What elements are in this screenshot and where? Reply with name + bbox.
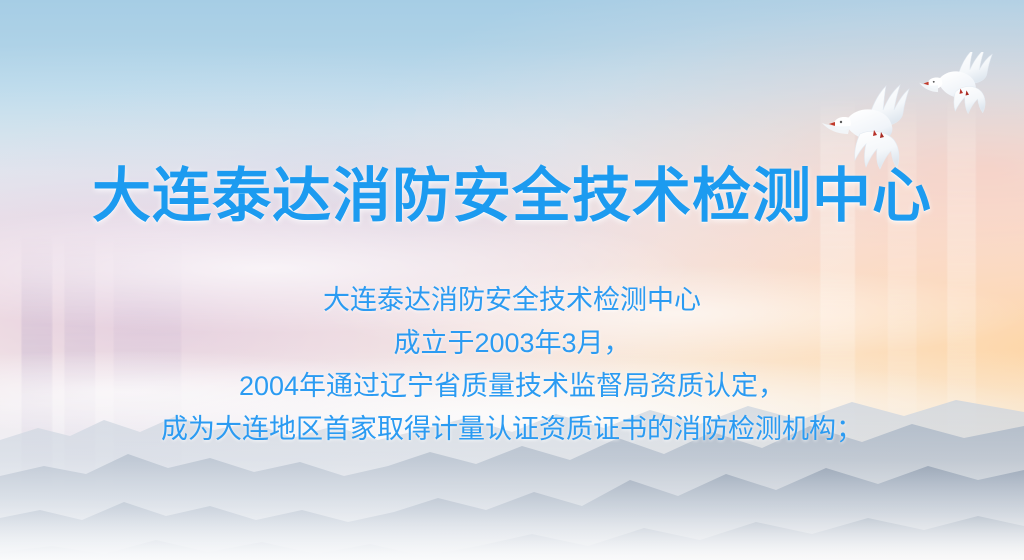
page-title: 大连泰达消防安全技术检测中心 bbox=[0, 164, 1024, 228]
description-line-3: 2004年通过辽宁省质量技术监督局资质认定， bbox=[0, 365, 1024, 408]
description-line-1: 大连泰达消防安全技术检测中心 bbox=[0, 279, 1024, 322]
description-line-2: 成立于2003年3月， bbox=[0, 322, 1024, 365]
slide-content: 大连泰达消防安全技术检测中心 大连泰达消防安全技术检测中心 成立于2003年3月… bbox=[0, 0, 1024, 560]
slide-canvas: 大连泰达消防安全技术检测中心 大连泰达消防安全技术检测中心 成立于2003年3月… bbox=[0, 0, 1024, 560]
description-line-4: 成为大连地区首家取得计量认证资质证书的消防检测机构； bbox=[0, 408, 1024, 451]
description-block: 大连泰达消防安全技术检测中心 成立于2003年3月， 2004年通过辽宁省质量技… bbox=[0, 279, 1024, 451]
